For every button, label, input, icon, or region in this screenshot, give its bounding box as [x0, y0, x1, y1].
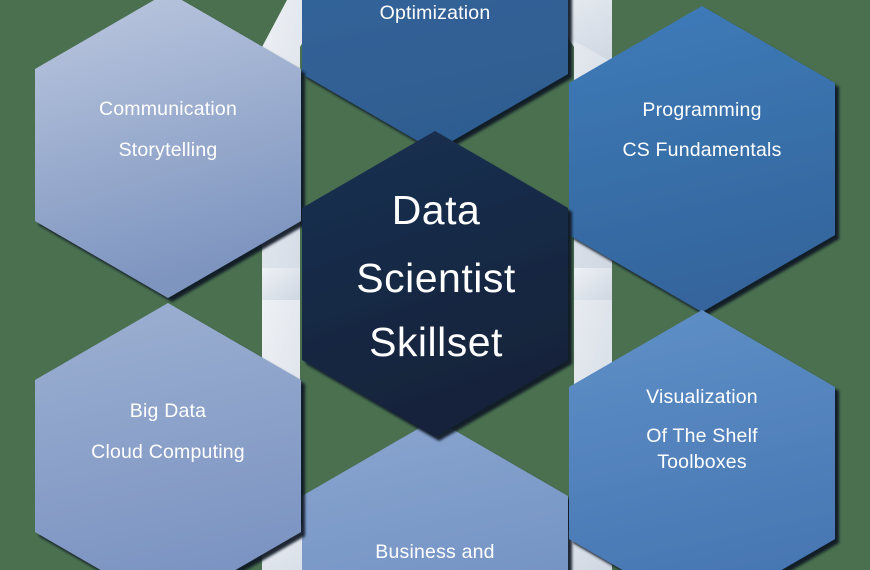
hexagon-skillset-diagram: Optimization Business and Communication … [0, 0, 870, 570]
hexagon-visualization-toolboxes-line-2: Of The Shelf [646, 425, 758, 447]
hexagon-big-data-cloud-computing-shape[interactable] [35, 303, 301, 570]
hexagon-communication-storytelling-line-2: Storytelling [119, 139, 218, 161]
hexagon-visualization-toolboxes-line-1: Visualization [646, 386, 758, 408]
hexagon-programming-cs-fundamentals-line-1: Programming [642, 99, 761, 121]
hexagon-business-and-line-1: Business and [375, 541, 494, 563]
center-label-line-1: Data [392, 187, 481, 233]
center-label-line-2: Scientist [356, 255, 516, 301]
center-label-line-3: Skillset [369, 319, 503, 365]
connector-right-column [574, 268, 612, 300]
hexagon-communication-storytelling-line-1: Communication [99, 98, 237, 120]
hexagon-visualization-toolboxes-line-3: Toolboxes [657, 451, 747, 473]
hexagon-optimization-line-1: Optimization [380, 2, 491, 24]
hexagon-programming-cs-fundamentals-line-2: CS Fundamentals [622, 139, 781, 161]
hexagon-big-data-cloud-computing[interactable] [35, 303, 301, 570]
hexagon-big-data-cloud-computing-line-2: Cloud Computing [91, 441, 245, 463]
connector-left-column [262, 268, 300, 300]
hexagon-big-data-cloud-computing-line-1: Big Data [130, 400, 206, 422]
